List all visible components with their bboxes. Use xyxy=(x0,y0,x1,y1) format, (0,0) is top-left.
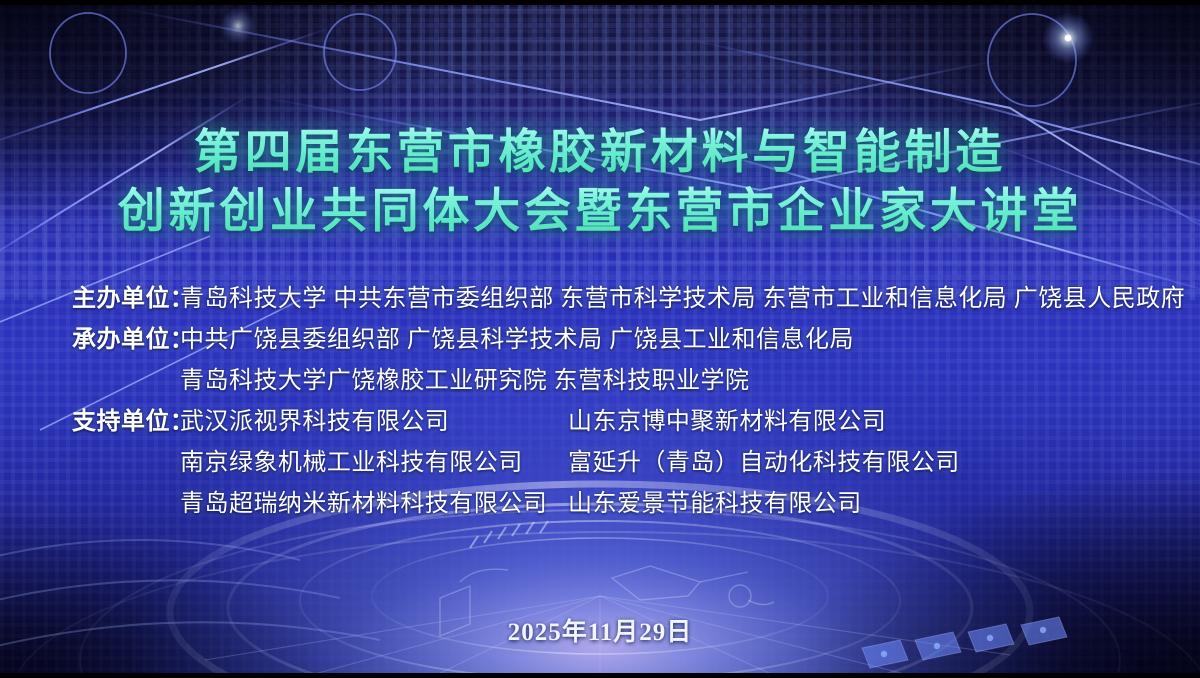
organizer-text: 武汉派视界科技有限公司 xyxy=(180,402,449,443)
organizer-row: 南京绿象机械工业科技有限公司 富延升（青岛）自动化科技有限公司 xyxy=(0,443,1200,484)
organizer-text: 南京绿象机械工业科技有限公司 xyxy=(180,443,523,484)
organizer-text: 中共广饶县委组织部 广饶县科学技术局 广饶县工业和信息化局 xyxy=(180,320,854,361)
organizer-text: 青岛科技大学 中共东营市委组织部 东营市科学技术局 东营市工业和信息化局 广饶县… xyxy=(180,279,1185,320)
organizer-row: 主办单位： 青岛科技大学 中共东营市委组织部 东营市科学技术局 东营市工业和信息… xyxy=(0,279,1200,320)
organizer-row: 青岛科技大学广饶橡胶工业研究院 东营科技职业学院 xyxy=(0,361,1200,402)
organizer-label: 主办单位： xyxy=(72,279,180,320)
letterbox-top xyxy=(0,0,1200,5)
organizer-row: 支持单位： 武汉派视界科技有限公司 山东京博中聚新材料有限公司 xyxy=(0,402,1200,443)
organizer-row: 承办单位： 中共广饶县委组织部 广饶县科学技术局 广饶县工业和信息化局 xyxy=(0,320,1200,361)
letterbox-bottom xyxy=(0,673,1200,678)
conference-banner: 第四届东营市橡胶新材料与智能制造 创新创业共同体大会暨东营市企业家大讲堂 主办单… xyxy=(0,0,1200,678)
event-date: 2025年11月29日 xyxy=(0,612,1200,648)
banner-title: 第四届东营市橡胶新材料与智能制造 创新创业共同体大会暨东营市企业家大讲堂 xyxy=(0,122,1200,240)
organizer-text: 青岛科技大学广饶橡胶工业研究院 东营科技职业学院 xyxy=(180,361,750,402)
organizer-label: 承办单位： xyxy=(72,320,180,361)
organizer-text-secondary: 富延升（青岛）自动化科技有限公司 xyxy=(568,443,960,484)
organizer-row: 青岛超瑞纳米新材料科技有限公司 山东爱景节能科技有限公司 xyxy=(0,484,1200,525)
organizer-list: 主办单位： 青岛科技大学 中共东营市委组织部 东营市科学技术局 东营市工业和信息… xyxy=(0,279,1200,525)
title-line-2: 创新创业共同体大会暨东营市企业家大讲堂 xyxy=(0,181,1200,240)
organizer-label: 支持单位： xyxy=(72,402,180,443)
organizer-text-secondary: 山东京博中聚新材料有限公司 xyxy=(568,402,886,443)
organizer-text-secondary: 山东爱景节能科技有限公司 xyxy=(568,484,862,525)
title-line-1: 第四届东营市橡胶新材料与智能制造 xyxy=(0,122,1200,181)
organizer-text: 青岛超瑞纳米新材料科技有限公司 xyxy=(180,484,547,525)
